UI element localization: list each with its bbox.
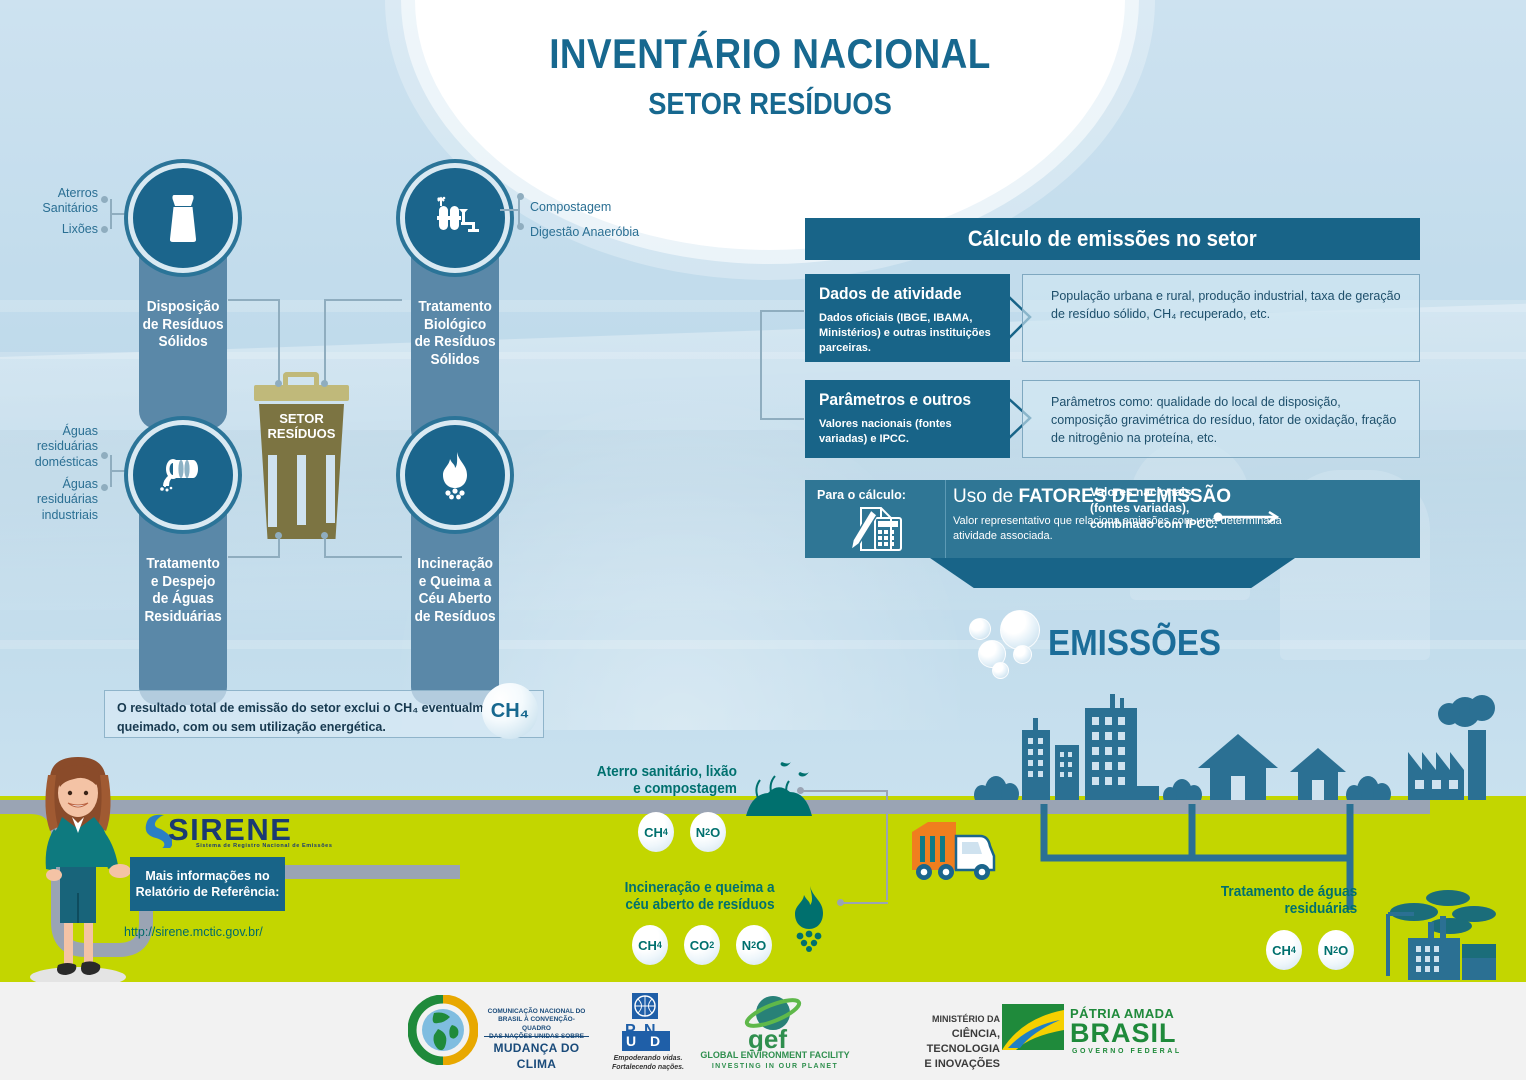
sirene-url[interactable]: http://sirene.mctic.gov.br/ (124, 925, 263, 939)
wastewater-plant-icon (1376, 690, 1506, 980)
connector-dot (101, 196, 108, 203)
connector-line (110, 213, 128, 215)
calc-row-title: Parâmetros e outros (819, 390, 982, 410)
ch4-note: O resultado total de emissão do setor ex… (104, 690, 544, 738)
emission-bubble (969, 618, 991, 640)
node-label: Disposiçãode ResíduosSólidos (142, 299, 223, 352)
gas-badge-ch4: CH4 (1266, 930, 1302, 970)
gas-badge-n2o: N2O (690, 812, 726, 852)
bin-slots (268, 455, 335, 531)
side-label-digestao-anaerobia: Digestão Anaeróbia (530, 225, 710, 240)
scene-label-incineracao: Incineração e queima acéu aberto de resí… (605, 880, 774, 915)
ch4-badge: CH₄ (482, 683, 538, 739)
ch4-badge-text: CH₄ (491, 700, 529, 723)
calc-row-label-parametros-e-outros: Parâmetros e outros Valores nacionais (f… (805, 380, 1010, 458)
connector-dot (275, 380, 282, 387)
ch4-note-text: O resultado total de emissão do setor ex… (117, 701, 509, 734)
center-bin-label: SETOR RESÍDUOS (268, 412, 336, 442)
side-label-aguas-industriais: Águasresiduáriasindustriais (20, 477, 98, 523)
connector-line (324, 299, 402, 301)
connector-dot (101, 452, 108, 459)
emission-bubble (1000, 610, 1040, 650)
connector-line (760, 310, 804, 312)
connector-dot (517, 223, 524, 230)
page-title: INVENTÁRIO NACIONAL (458, 30, 1083, 78)
calc-row-label-dados-de-atividade: Dados de atividade Dados oficiais (IBGE,… (805, 274, 1010, 362)
presenter-avatar (20, 755, 140, 985)
node-label: Tratamentoe Despejode ÁguasResiduárias (144, 556, 221, 627)
connector-dot (517, 193, 524, 200)
calc-row-title: Dados de atividade (819, 284, 982, 304)
logo-caption-mcti: MINISTÉRIO DACIÊNCIA, TECNOLOGIAE INOVAÇ… (880, 1012, 1000, 1071)
pnud-logo-bar: U D (622, 1031, 670, 1051)
connector-dot (101, 484, 108, 491)
more-info-box[interactable]: Mais informações no Relatório de Referên… (130, 857, 285, 911)
connector-dot (321, 532, 328, 539)
calc-panel-title: Cálculo de emissões no setor (968, 226, 1257, 252)
scene-label-aterro: Aterro sanitário, lixãoe compostagem (577, 764, 737, 799)
connector-line (840, 902, 888, 904)
logo-caption-brasil: BRASIL (1070, 1020, 1177, 1047)
biodigester-icon (400, 163, 510, 273)
calc-row-description-parametros: Parâmetros como: qualidade do local de d… (1022, 380, 1420, 458)
node-label: TratamentoBiológicode ResíduosSólidos (414, 299, 495, 370)
node-label: Incineraçãoe Queima aCéu Abertode Resídu… (414, 556, 495, 627)
flame-icon (400, 420, 510, 530)
connector-line (500, 209, 518, 211)
side-label-aguas-domesticas: Águasresiduáriasdomésticas (20, 424, 98, 470)
bin-line-2: RESÍDUOS (268, 426, 336, 441)
calc-row-description-text: População urbana e rural, produção indus… (1051, 289, 1401, 321)
connector-line (800, 790, 888, 792)
connector-line (886, 790, 888, 900)
more-info-line1: Mais informações no (145, 868, 269, 884)
sirene-tagline: Sistema de Registro Nacional de Emissões (196, 843, 333, 849)
calc-row-description-text: Parâmetros como: qualidade do local de d… (1051, 395, 1396, 445)
connector-dot (321, 380, 328, 387)
pipe-outflow-icon (128, 420, 238, 530)
page-subtitle: SETOR RESÍDUOS (458, 86, 1083, 122)
calc-row-subtitle: Valores nacionais (fontes variadas) e IP… (819, 417, 996, 447)
emission-bubble (992, 662, 1009, 679)
logo-caption-gef-sub: INVESTING IN OUR PLANET (700, 1062, 850, 1071)
emissions-label: EMISSÕES (1048, 622, 1221, 664)
logo-caption-gef: GLOBAL ENVIRONMENT FACILITY (700, 1050, 850, 1062)
calc-panel-skirt (930, 558, 1295, 588)
connector-line (278, 299, 280, 383)
calculator-pencil-icon (831, 506, 905, 557)
calc-factor-title-light: Uso de (953, 486, 1018, 507)
connector-line (518, 196, 520, 226)
burning-waste-icon (786, 884, 834, 954)
calc-panel-header: Cálculo de emissões no setor (805, 218, 1420, 260)
connector-dot (275, 532, 282, 539)
connector-dot (101, 226, 108, 233)
calc-row-subtitle: Dados oficiais (IBGE, IBAMA, Ministérios… (819, 311, 996, 356)
connector-dot (837, 899, 844, 906)
side-label-aterros-sanitarios: AterrosSanitários (20, 186, 98, 217)
side-label-compostagem: Compostagem (530, 200, 690, 215)
connector-line (760, 418, 804, 420)
gas-badge-n2o: N2O (1318, 930, 1354, 970)
svg-text:gef: gef (748, 1024, 787, 1051)
calc-row-description-dados-de-atividade: População urbana e rural, produção indus… (1022, 274, 1420, 362)
bin-line-1: SETOR (279, 411, 324, 426)
scene-label-aguas: Tratamento de águasresiduárias (1207, 884, 1357, 919)
connector-line (228, 299, 280, 301)
logo-caption-pnud: Empoderando vidas.Fortalecendo nações. (608, 1054, 688, 1072)
connector-line (110, 470, 128, 472)
logo-caption-mudanca-do-clima: MUDANÇA DO CLIMA (484, 1036, 589, 1072)
brasil-flag-icon (1002, 1004, 1064, 1050)
logo-caption-governo-federal: GOVERNO FEDERAL (1072, 1048, 1182, 1055)
gef-logo-icon: gef (730, 993, 812, 1051)
side-label-lixoes: Lixões (20, 222, 98, 237)
connector-line (324, 299, 326, 383)
gas-badge-ch4: CH4 (638, 812, 674, 852)
calc-factor-label: Para o cálculo: (817, 488, 906, 502)
waste-bag-icon (128, 163, 238, 273)
more-info-line2: Relatório de Referência: (136, 884, 280, 900)
connector-line (324, 556, 402, 558)
connector-dot (797, 787, 804, 794)
connector-line (228, 556, 280, 558)
mudanca-do-clima-logo-icon (408, 995, 478, 1065)
garbage-truck-icon (908, 818, 1018, 884)
header: INVENTÁRIO NACIONAL SETOR RESÍDUOS (415, 30, 1125, 122)
gas-badge-ch4: CH4 (632, 925, 668, 965)
bin-lid-icon (254, 385, 349, 401)
gas-badge-n2o: N2O (736, 925, 772, 965)
calc-factor-right-note: Valores nacionais (fontes variadas), com… (1090, 484, 1225, 533)
gas-badge-co2: CO2 (684, 925, 720, 965)
emission-bubble (1013, 645, 1032, 664)
connector-line (760, 310, 762, 420)
